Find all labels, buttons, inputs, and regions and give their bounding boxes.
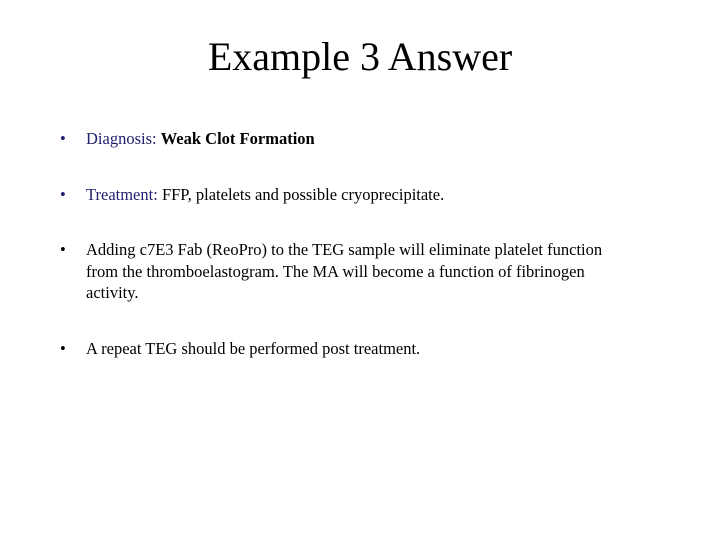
list-item-content: Treatment: FFP, platelets and possible c… [86,185,444,204]
list-item[interactable]: • Diagnosis: Weak Clot Formation [58,128,638,150]
bullet-point-icon: • [60,338,66,360]
bullet-point-icon: • [60,184,66,206]
list-item-value: Adding c7E3 Fab (ReoPro) to the TEG samp… [86,240,602,302]
list-item-value: FFP, platelets and possible cryoprecipit… [162,185,444,204]
bullet-point-icon: • [60,128,66,150]
bullet-point-icon: • [60,239,66,261]
page-title: Example 3 Answer [0,34,720,80]
list-item-value: A repeat TEG should be performed post tr… [86,339,420,358]
list-item-value: Weak Clot Formation [161,129,315,148]
list-item[interactable]: • A repeat TEG should be performed post … [58,338,638,360]
presentation-slide: Example 3 Answer • Diagnosis: Weak Clot … [0,0,720,540]
bullet-list: • Diagnosis: Weak Clot Formation • Treat… [58,128,638,359]
list-item-label: Diagnosis: [86,129,157,148]
list-item[interactable]: • Treatment: FFP, platelets and possible… [58,184,638,206]
list-item-content: Diagnosis: Weak Clot Formation [86,129,315,148]
list-item[interactable]: • Adding c7E3 Fab (ReoPro) to the TEG sa… [58,239,638,304]
list-item-label: Treatment: [86,185,158,204]
